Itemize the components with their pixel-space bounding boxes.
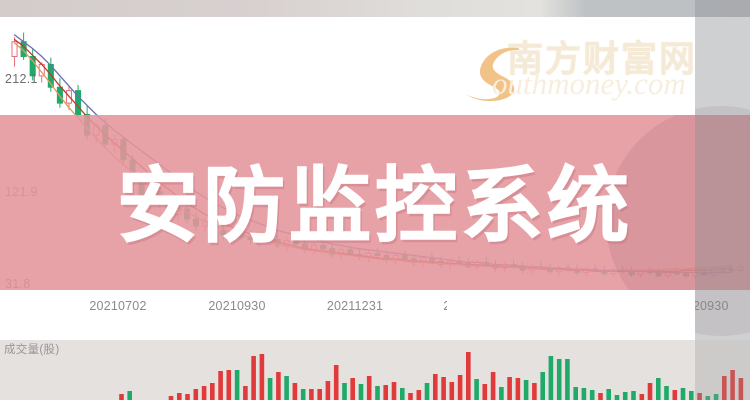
right-grey-overlay (695, 0, 750, 340)
right-grey-overlay-lower (695, 340, 750, 400)
watermark-backdrop-lower (447, 290, 695, 340)
volume-chart-svg (0, 340, 750, 400)
y-axis-label-high: 212.1 (5, 72, 38, 86)
x-axis-tick-2: 20211231 (327, 299, 383, 313)
volume-chart-title: 成交量(股) (4, 341, 59, 357)
x-axis-tick-1: 20210930 (208, 299, 265, 313)
screenshot-root: 212.1 121.9 31.8 20210702 20210930 20211… (0, 0, 750, 400)
x-axis-tick-0: 20210702 (89, 299, 146, 313)
top-gradient-band (0, 0, 750, 17)
page-title: 安防监控系统 (0, 152, 750, 262)
watermark-english: outhmoney.com (492, 66, 686, 102)
volume-chart (0, 340, 750, 400)
watermark-logo: 南方财富网 outhmoney.com (462, 28, 692, 100)
